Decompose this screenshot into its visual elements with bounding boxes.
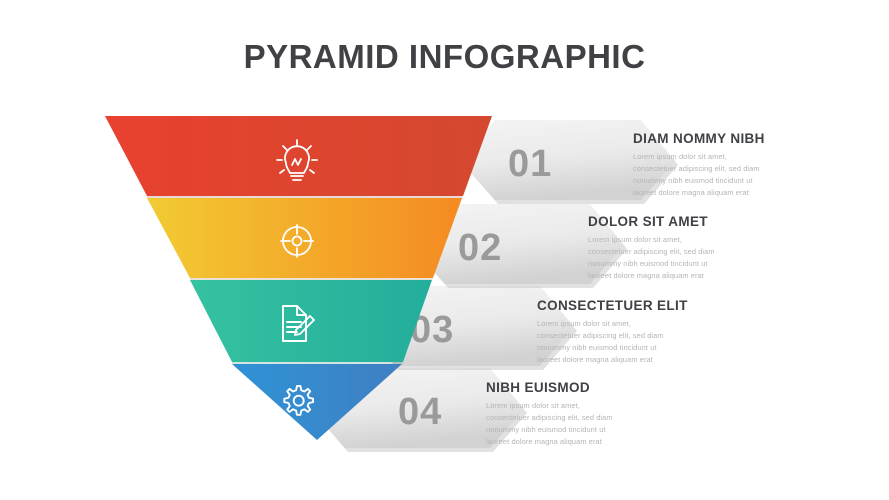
level-2-body: Lorem ipsum dolor sit amet, consectetuer… <box>588 234 722 282</box>
level-3-body: Lorem ipsum dolor sit amet, consectetuer… <box>537 318 671 366</box>
level-1-heading: DIAM NOMMY NIBH <box>633 131 767 146</box>
level-1-textblock: DIAM NOMMY NIBH Lorem ipsum dolor sit am… <box>633 131 767 199</box>
level-2-textblock: DOLOR SIT AMET Lorem ipsum dolor sit ame… <box>588 214 722 282</box>
pyramid-level-2-shape <box>147 198 462 278</box>
pyramid-level-3-shape <box>190 280 432 362</box>
band-shadow-1 <box>147 196 463 198</box>
level-2-heading: DOLOR SIT AMET <box>588 214 722 229</box>
level-1-body: Lorem ipsum dolor sit amet, consectetuer… <box>633 151 767 199</box>
band-shadow-3 <box>232 362 403 364</box>
band-shadow-2 <box>190 278 433 280</box>
level-3-textblock: CONSECTETUER ELIT Lorem ipsum dolor sit … <box>537 298 688 366</box>
pyramid-level-1[interactable] <box>105 116 492 196</box>
level-3-heading: CONSECTETUER ELIT <box>537 298 688 313</box>
banner-04-number: 04 <box>398 391 442 433</box>
pyramid-level-3[interactable] <box>190 280 432 362</box>
infographic-canvas: PYRAMID INFOGRAPHIC <box>0 0 889 500</box>
pyramid-level-2[interactable] <box>147 198 462 278</box>
level-4-textblock: NIBH EUISMOD Lorem ipsum dolor sit amet,… <box>486 380 620 448</box>
banner-01-number: 01 <box>508 143 552 185</box>
banner-02-number: 02 <box>458 227 502 269</box>
level-4-heading: NIBH EUISMOD <box>486 380 620 395</box>
pyramid-level-1-shape <box>105 116 492 196</box>
pyramid-graphic: 04 03 02 01 <box>0 0 889 500</box>
level-4-body: Lorem ipsum dolor sit amet, consectetuer… <box>486 400 620 448</box>
